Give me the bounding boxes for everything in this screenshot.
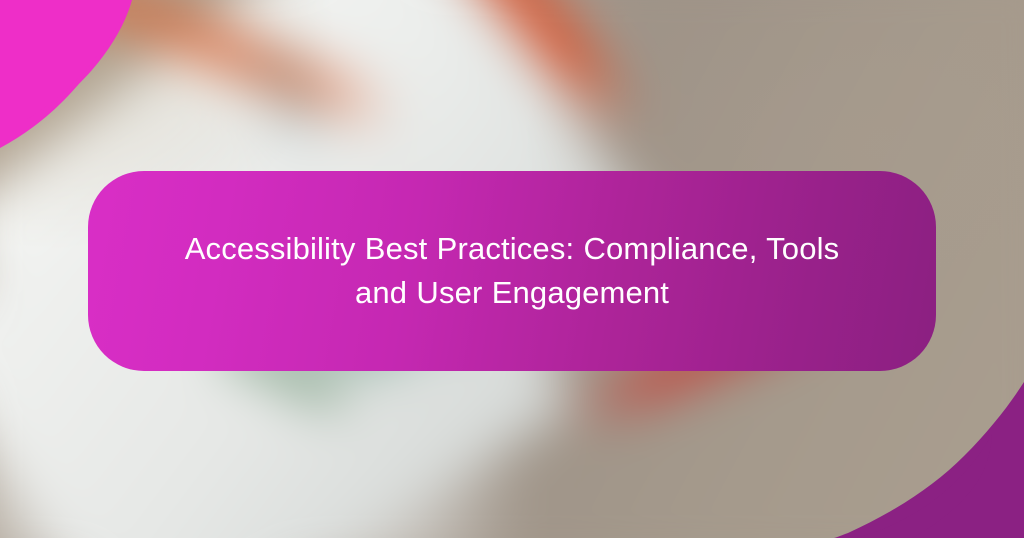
title-banner: Accessibility Best Practices: Compliance… (88, 171, 936, 371)
featured-image-card: Accessibility Best Practices: Compliance… (0, 0, 1024, 538)
page-title: Accessibility Best Practices: Compliance… (162, 227, 862, 315)
